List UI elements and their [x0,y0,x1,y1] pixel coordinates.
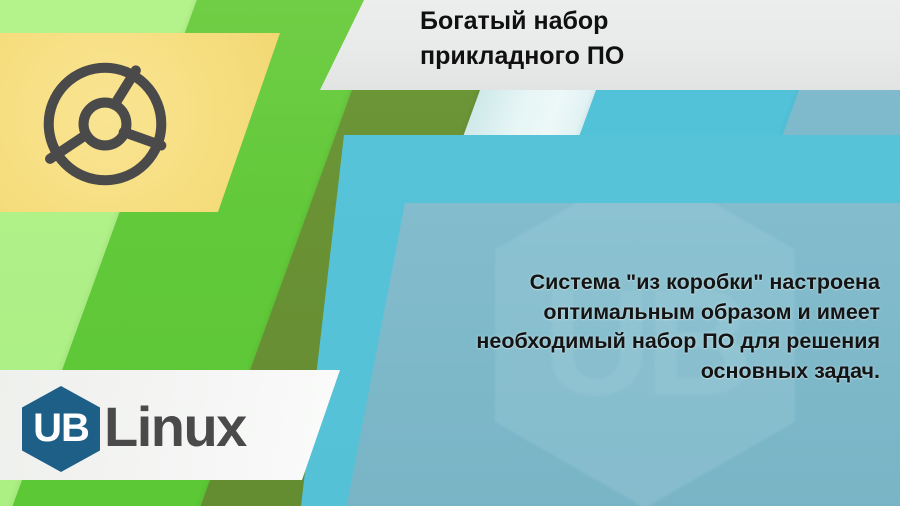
hexagon-label: UB [22,386,100,472]
brand-logo-bar: UB Linux [0,370,340,480]
presentation-slide: UB Система "из коробки" настроена оптима… [0,0,900,506]
aperture-icon [38,57,172,191]
ub-hexagon-logo-icon: UB [22,386,100,472]
logo-lockup: UB Linux [22,386,246,472]
logo-wordmark: Linux [104,399,246,459]
body-paragraph: Система "из коробки" настроена оптимальн… [390,268,880,387]
page-title: Богатый набор прикладного ПО [420,4,624,73]
title-banner: Богатый набор прикладного ПО [320,0,900,90]
